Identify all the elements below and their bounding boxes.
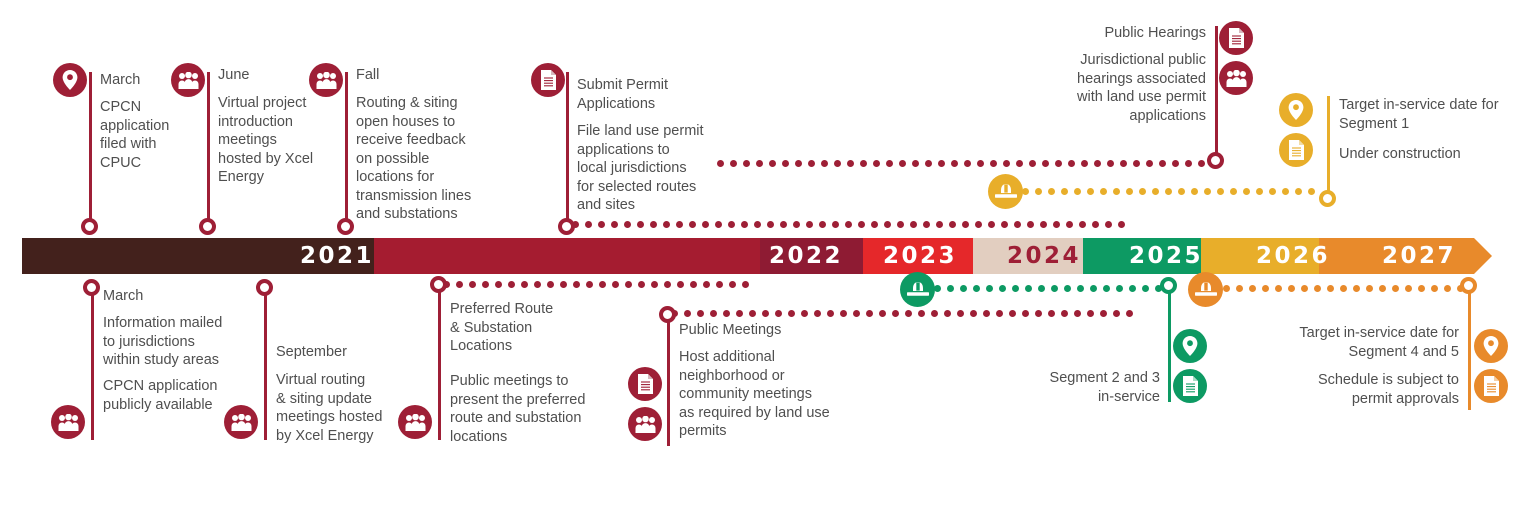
map-pin-icon xyxy=(1173,329,1207,363)
event-heading: Submit Permit Applications xyxy=(577,76,712,113)
event-body: Information mailed to jurisdictions with… xyxy=(103,314,243,370)
timeline-knob xyxy=(558,218,575,235)
map-pin-icon xyxy=(1279,93,1313,127)
timeline-knob xyxy=(83,279,100,296)
stem xyxy=(264,288,267,440)
timeline-knob xyxy=(659,306,676,323)
document-icon xyxy=(1474,369,1508,403)
people-icon xyxy=(224,405,258,439)
event-body: Under construction xyxy=(1339,145,1524,164)
stem xyxy=(667,318,670,446)
dotted-connector-submit-permit xyxy=(572,221,1134,228)
event-body: Jurisdictional public hearings associate… xyxy=(1020,51,1206,125)
dotted-connector-preferred-route xyxy=(443,281,761,288)
timeline-infographic: 2021 2022 2023 2024 2025 2026 2027 March… xyxy=(0,0,1536,512)
year-label-2026: 2026 xyxy=(1256,245,1330,268)
people-icon xyxy=(51,405,85,439)
stem xyxy=(1468,288,1471,410)
event-heading: March xyxy=(103,287,243,306)
map-pin-icon xyxy=(53,63,87,97)
year-label-2027: 2027 xyxy=(1382,245,1456,268)
stem xyxy=(1327,96,1330,200)
stem xyxy=(89,72,92,228)
document-icon xyxy=(531,63,565,97)
event-heading: Preferred Route & Substation Locations xyxy=(450,300,605,356)
event-body-secondary: CPCN application publicly available xyxy=(103,377,243,414)
event-body: Routing & siting open houses to receive … xyxy=(356,94,486,224)
stem xyxy=(438,288,441,440)
timeline-knob xyxy=(1319,190,1336,207)
event-body: CPCN application filed with CPUC xyxy=(100,98,195,172)
timeline-knob xyxy=(337,218,354,235)
dotted-connector-permit-hearings xyxy=(717,160,1215,167)
dotted-connector-construction-green xyxy=(934,285,1172,292)
year-label-2021: 2021 xyxy=(300,245,374,268)
document-icon xyxy=(1219,21,1253,55)
year-label-2024: 2024 xyxy=(1007,245,1081,268)
people-icon xyxy=(628,407,662,441)
stem xyxy=(91,288,94,440)
bar-chevron-2027 xyxy=(1474,238,1492,274)
people-icon xyxy=(1219,61,1253,95)
year-label-2023: 2023 xyxy=(883,245,957,268)
event-heading: Target in-service date for Segment 4 and… xyxy=(1240,324,1459,361)
timeline-knob xyxy=(81,218,98,235)
stem xyxy=(1168,288,1171,402)
dotted-connector-construction-yellow xyxy=(1022,188,1327,195)
year-label-2022: 2022 xyxy=(769,245,843,268)
event-heading: Public Meetings xyxy=(679,321,844,340)
timeline-knob xyxy=(430,276,447,293)
event-body: File land use permit applications to loc… xyxy=(577,122,712,215)
people-icon xyxy=(309,63,343,97)
people-icon xyxy=(171,63,205,97)
map-pin-icon xyxy=(1474,329,1508,363)
year-label-2025: 2025 xyxy=(1129,245,1203,268)
event-heading: Public Hearings xyxy=(1020,24,1206,43)
document-icon xyxy=(1279,133,1313,167)
document-icon xyxy=(628,367,662,401)
event-heading: Segment 2 and 3 in-service xyxy=(1000,369,1160,406)
stem xyxy=(207,72,210,228)
stem xyxy=(345,72,348,228)
timeline-knob xyxy=(256,279,273,296)
people-icon xyxy=(398,405,432,439)
event-body: Host additional neighborhood or communit… xyxy=(679,348,844,441)
event-heading: Target in-service date for Segment 1 xyxy=(1339,96,1524,133)
timeline-knob xyxy=(1460,277,1477,294)
dotted-connector-construction-orange xyxy=(1223,285,1469,292)
timeline-knob xyxy=(199,218,216,235)
event-heading: September xyxy=(276,343,406,362)
event-heading: Fall xyxy=(356,66,486,85)
event-body: Virtual routing & siting update meetings… xyxy=(276,371,406,445)
stem xyxy=(1215,26,1218,166)
hard-hat-icon-orange xyxy=(1188,272,1223,307)
event-body: Public meetings to present the preferred… xyxy=(450,372,605,446)
stem xyxy=(566,72,569,228)
timeline-knob xyxy=(1207,152,1224,169)
hard-hat-icon-yellow xyxy=(988,174,1023,209)
bar-segment-2021-crimson xyxy=(374,238,760,274)
hard-hat-icon-green xyxy=(900,272,935,307)
dotted-connector-public-meetings xyxy=(671,310,1137,317)
timeline-knob xyxy=(1160,277,1177,294)
event-body: Virtual project introduction meetings ho… xyxy=(218,94,328,187)
document-icon xyxy=(1173,369,1207,403)
event-body: Schedule is subject to permit approvals xyxy=(1240,371,1459,408)
